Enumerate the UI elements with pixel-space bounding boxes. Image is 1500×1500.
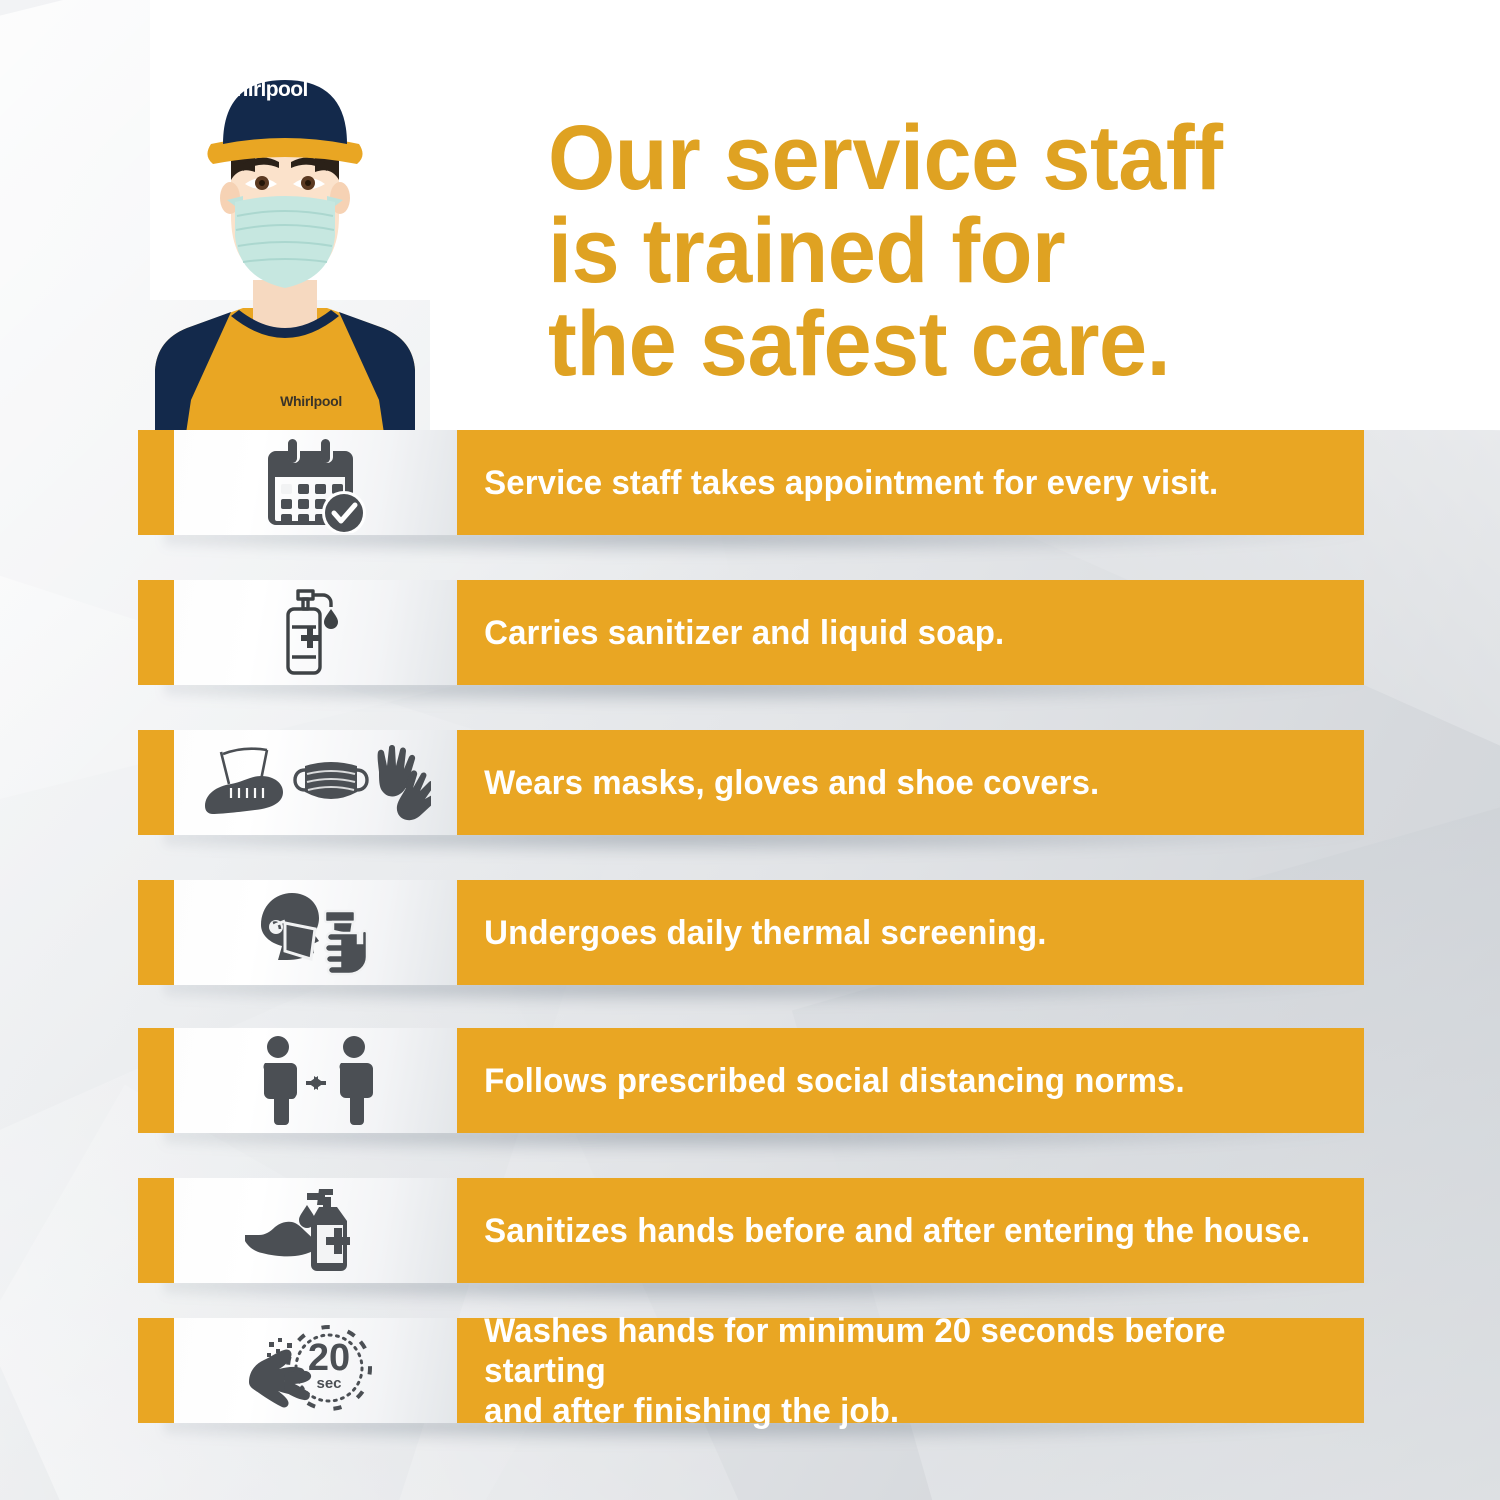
- band-accent-tab: [138, 430, 174, 535]
- list-item[interactable]: Wears masks, gloves and shoe covers.: [138, 730, 1364, 835]
- list-item-label: Sanitizes hands before and after enterin…: [457, 1211, 1330, 1251]
- infographic-poster: Whirlpool Whirlpool: [0, 0, 1500, 1500]
- face-mask-icon: [295, 762, 367, 799]
- list-item-label: Service staff takes appointment for ever…: [457, 463, 1238, 503]
- band-body: Sanitizes hands before and after enterin…: [457, 1178, 1364, 1283]
- calendar-check-icon: [174, 430, 457, 535]
- band-body: Undergoes daily thermal screening.: [457, 880, 1364, 985]
- band-accent-tab: [138, 880, 174, 985]
- timer-number: 20: [307, 1337, 349, 1379]
- social-distancing-icon: [174, 1028, 457, 1133]
- band-body: Washes hands for minimum 20 seconds befo…: [457, 1318, 1364, 1423]
- list-item[interactable]: 20 sec Washes hands for minimum 20 secon…: [138, 1318, 1364, 1423]
- gloves-icon: [377, 745, 430, 820]
- list-item-label: Wears masks, gloves and shoe covers.: [457, 763, 1119, 803]
- band-accent-tab: [138, 1318, 174, 1423]
- band-body: Follows prescribed social distancing nor…: [457, 1028, 1364, 1133]
- band-body: Carries sanitizer and liquid soap.: [457, 580, 1364, 685]
- thermal-screening-icon: [174, 880, 457, 985]
- list-item-label: Undergoes daily thermal screening.: [457, 913, 1066, 953]
- list-item-label: Carries sanitizer and liquid soap.: [457, 613, 1024, 653]
- band-body: Wears masks, gloves and shoe covers.: [457, 730, 1364, 835]
- cap-brand-logo: Whirlpool: [197, 78, 327, 102]
- band-body: Service staff takes appointment for ever…: [457, 430, 1364, 535]
- ppe-shoecover-mask-gloves-icon: [174, 730, 457, 835]
- technician-illustration: Whirlpool Whirlpool: [135, 40, 435, 440]
- page-title: Our service staff is trained for the saf…: [548, 112, 1338, 391]
- list-item-label: Washes hands for minimum 20 seconds befo…: [457, 1311, 1337, 1431]
- hand-sanitize-icon: [174, 1178, 457, 1283]
- sanitizer-bottle-icon: [174, 580, 457, 685]
- list-item[interactable]: Undergoes daily thermal screening.: [138, 880, 1364, 985]
- timer-unit: sec: [316, 1375, 341, 1392]
- shirt-brand-logo: Whirlpool: [231, 393, 391, 409]
- wash-hands-20sec-icon: 20 sec: [174, 1318, 457, 1423]
- list-item[interactable]: Carries sanitizer and liquid soap.: [138, 580, 1364, 685]
- list-item[interactable]: Sanitizes hands before and after enterin…: [138, 1178, 1364, 1283]
- list-item-label: Follows prescribed social distancing nor…: [457, 1061, 1204, 1101]
- shoe-cover-icon: [205, 748, 283, 813]
- list-item[interactable]: Follows prescribed social distancing nor…: [138, 1028, 1364, 1133]
- list-item[interactable]: Service staff takes appointment for ever…: [138, 430, 1364, 535]
- band-accent-tab: [138, 580, 174, 685]
- band-accent-tab: [138, 1028, 174, 1133]
- band-accent-tab: [138, 1178, 174, 1283]
- band-accent-tab: [138, 730, 174, 835]
